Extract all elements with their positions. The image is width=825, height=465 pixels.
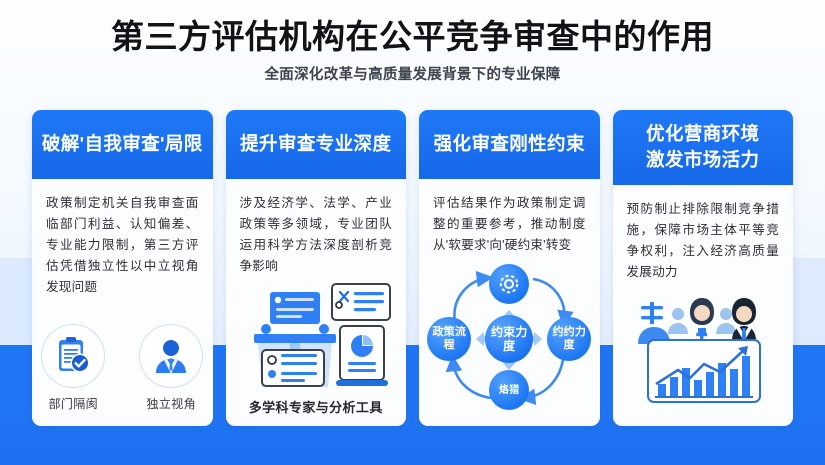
- card-rigid-constraint-visual: 政策流程 约束力度 约约力度 烙猎: [419, 260, 600, 426]
- card-rigid-constraint[interactable]: 强化审查刚性约束 评估结果作为政策制定调整的重要参考，推动制度从'软要求'向'硬…: [419, 110, 600, 426]
- card-self-review-header: 破解'自我审查'局限: [32, 110, 213, 179]
- card-self-review-visual: 部门隔阂 独立视角: [32, 302, 213, 426]
- card-business-environment-header: 优化营商环境 激发市场活力: [613, 110, 794, 185]
- clipboard-check-icon: [41, 324, 105, 388]
- cycle-node-bottom: 烙猎: [489, 370, 529, 410]
- page-title: 第三方评估机构在公平竞争审查中的作用: [0, 16, 825, 58]
- card-business-environment-header-line2: 激发市场活力: [646, 147, 759, 173]
- card-rigid-constraint-body: 评估结果作为政策制定调整的重要参考，推动制度从'软要求'向'硬约束'转变: [419, 179, 600, 260]
- cycle-node-binding-strength: 约约力度: [547, 317, 591, 361]
- card-business-environment-body: 预防制止排除限制竞争措施，保障市场主体平等竞争权利，注入经济高质量发展动力: [613, 185, 794, 287]
- card-professional-depth-header: 提升审查专业深度: [226, 110, 407, 179]
- card-business-environment[interactable]: 优化营商环境 激发市场活力 预防制止排除限制竞争措施，保障市场主体平等竞争权利，…: [613, 110, 794, 426]
- cycle-node-gear: [489, 264, 529, 304]
- card-business-environment-header-line1: 优化营商环境: [646, 121, 759, 147]
- person-avatar-icon: [139, 324, 203, 388]
- desk-illustration-icon: [236, 282, 396, 395]
- icon-unit-independent-view: 独立视角: [133, 324, 209, 412]
- cycle-node-constraint-strength: 约束力度: [485, 315, 533, 363]
- card-professional-depth[interactable]: 提升审查专业深度 涉及经济学、法学、产业政策等多领域，专业团队运用科学方法深度剖…: [226, 110, 407, 426]
- cycle-diagram: 政策流程 约束力度 约约力度 烙猎: [425, 264, 593, 414]
- card-professional-depth-body: 涉及经济学、法学、产业政策等多领域，专业团队运用科学方法深度剖析竞争影响: [226, 179, 407, 281]
- slide-canvas: 第三方评估机构在公平竞争审查中的作用 全面深化改革与高质量发展背景下的专业保障 …: [0, 0, 825, 465]
- icon-caption-department-barrier: 部门隔阂: [35, 395, 111, 412]
- gear-icon: [496, 271, 522, 297]
- icon-pair: 部门隔阂 独立视角: [32, 324, 213, 412]
- growth-chart-illustration-icon: [613, 292, 794, 416]
- page-subtitle: 全面深化改革与高质量发展背景下的专业保障: [0, 65, 825, 85]
- icon-unit-department-barrier: 部门隔阂: [35, 324, 111, 412]
- card-professional-depth-visual: 多学科专家与分析工具: [226, 281, 407, 426]
- icon-caption-independent-view: 独立视角: [133, 395, 209, 412]
- card-grid: 破解'自我审查'局限 政策制定机关自我审查面临部门利益、认知偏差、专业能力限制，…: [32, 110, 793, 426]
- desk-illustration-caption: 多学科专家与分析工具: [249, 397, 383, 416]
- cycle-node-policy-process: 政策流程: [427, 317, 471, 361]
- card-self-review[interactable]: 破解'自我审查'局限 政策制定机关自我审查面临部门利益、认知偏差、专业能力限制，…: [32, 110, 213, 426]
- card-business-environment-visual: [613, 287, 794, 426]
- card-self-review-body: 政策制定机关自我审查面临部门利益、认知偏差、专业能力限制，第三方评估凭借独立性以…: [32, 179, 213, 302]
- heading-block: 第三方评估机构在公平竞争审查中的作用 全面深化改革与高质量发展背景下的专业保障: [0, 16, 825, 85]
- card-rigid-constraint-header: 强化审查刚性约束: [419, 110, 600, 179]
